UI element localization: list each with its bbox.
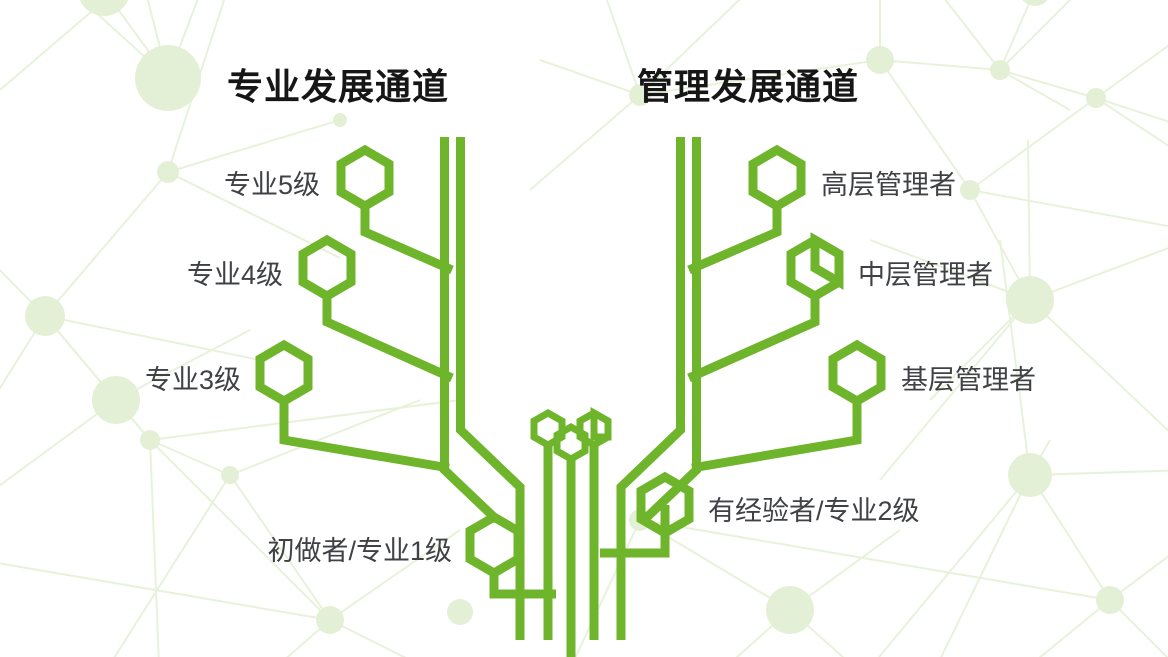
label-professional-level-4: 专业4级: [187, 253, 283, 292]
label-professional-level-5: 专业5级: [224, 163, 320, 202]
label-frontline-manager: 基层管理者: [901, 358, 1036, 397]
label-middle-manager: 中层管理者: [858, 253, 993, 292]
label-professional-level-1: 初做者/专业1级: [267, 529, 452, 568]
management-path-title: 管理发展通道: [637, 58, 859, 110]
career-path-infographic: 专业发展通道 管理发展通道 专业5级 专业4级 专业3级 初做者/专业1级 高层…: [0, 0, 1168, 657]
label-senior-manager: 高层管理者: [821, 163, 956, 202]
professional-path-title: 专业发展通道: [227, 58, 449, 110]
label-professional-level-3: 专业3级: [145, 358, 241, 397]
label-experienced-level-2: 有经验者/专业2级: [708, 489, 920, 528]
